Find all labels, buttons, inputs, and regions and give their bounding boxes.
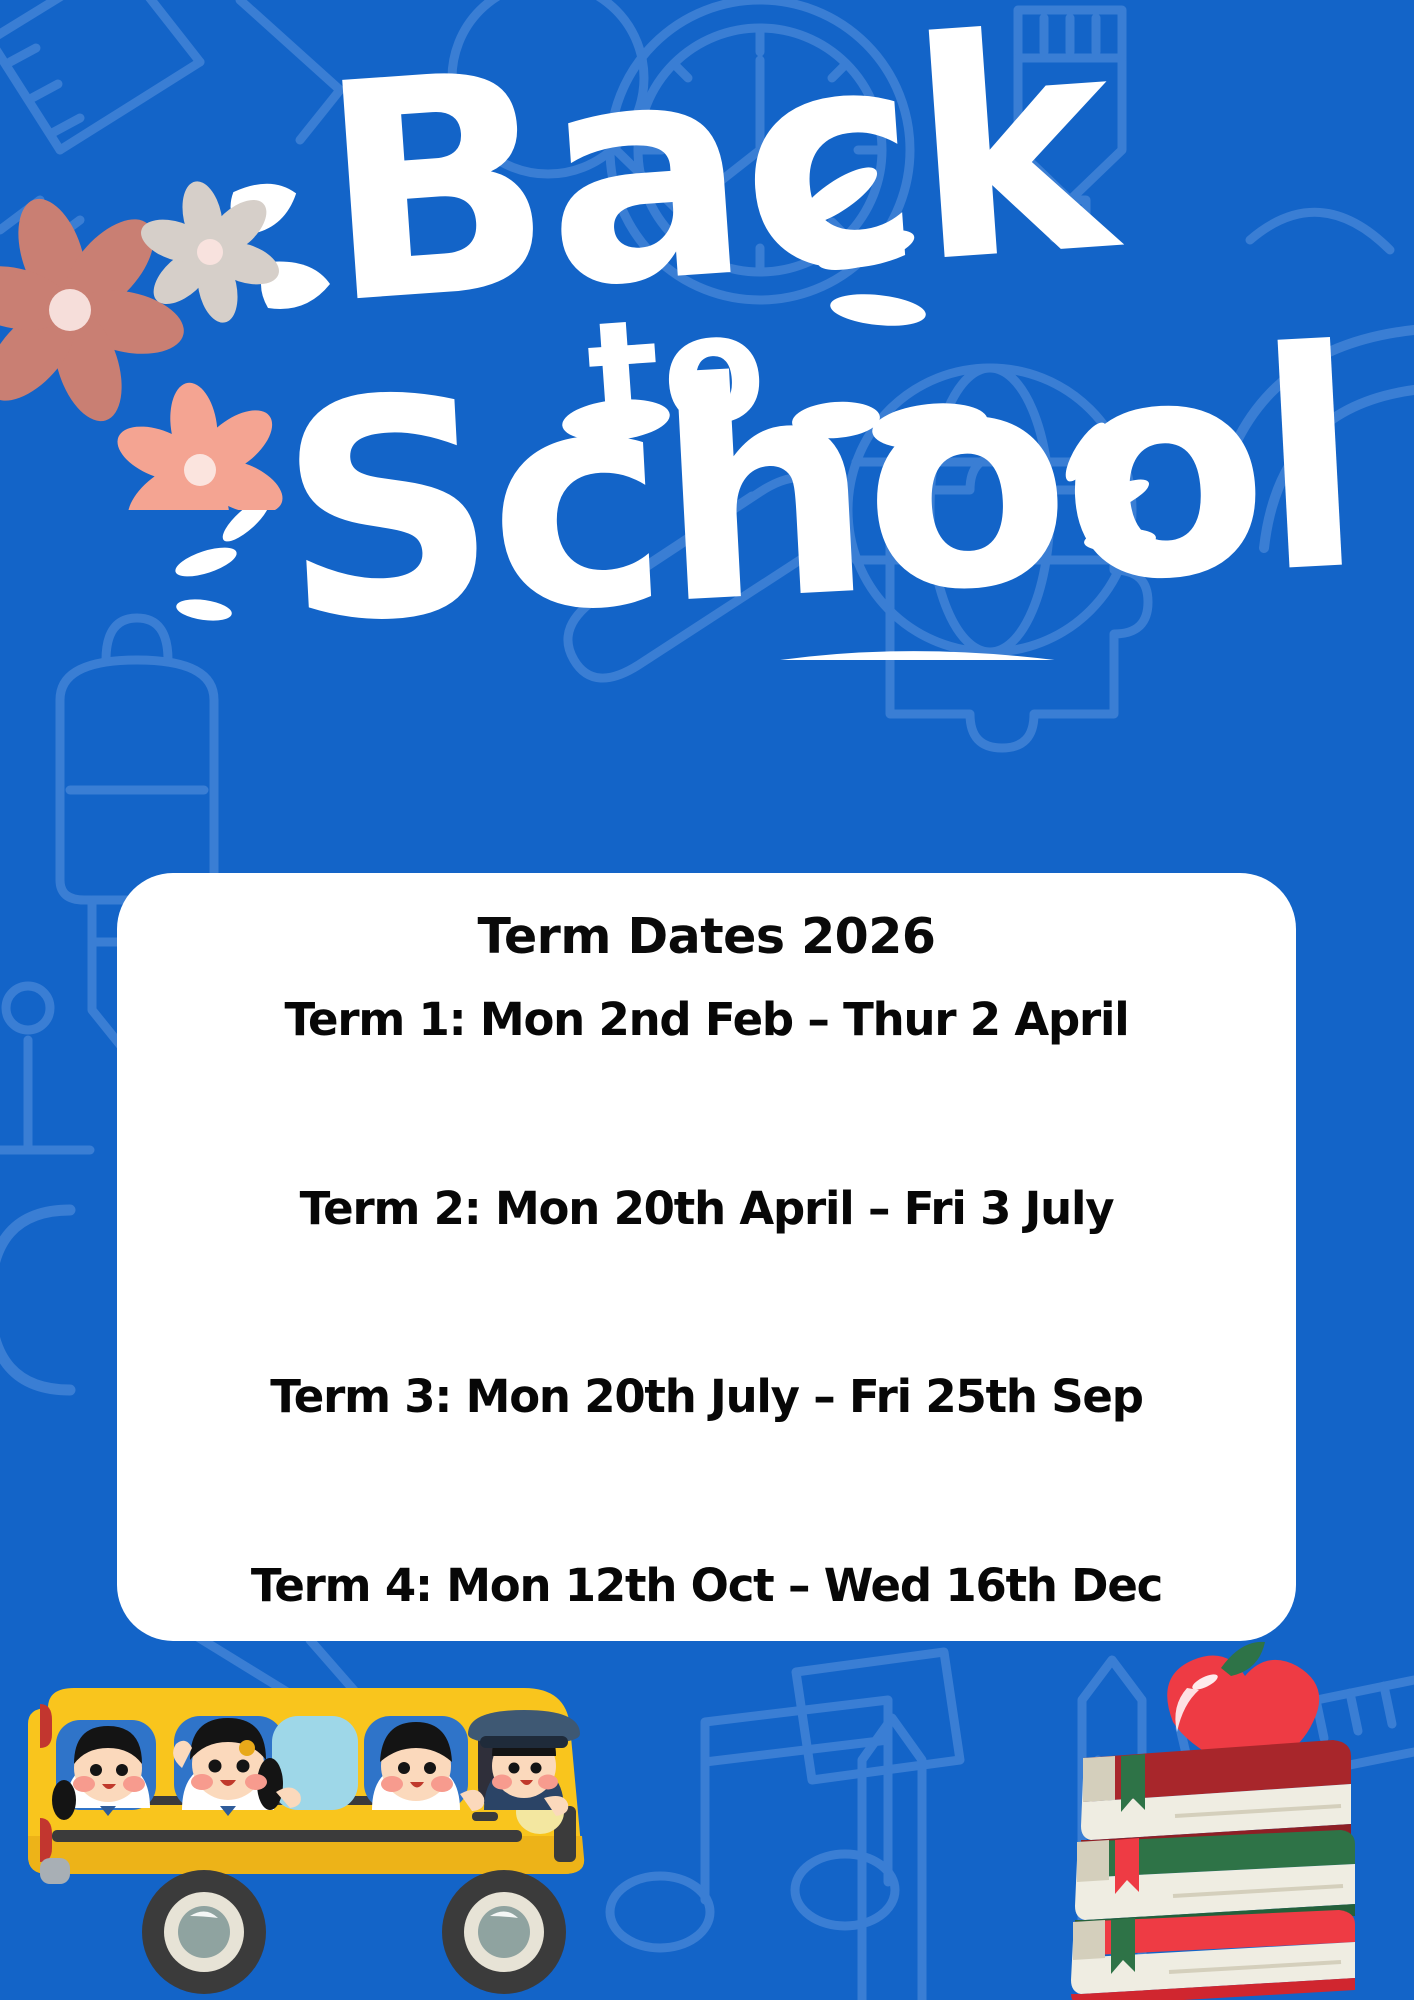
book-stack-illustration bbox=[1055, 1630, 1385, 2000]
bus-stripe-lower bbox=[52, 1830, 522, 1842]
school-bus-illustration bbox=[4, 1660, 624, 2000]
term-row-1: Term 1: Mon 2nd Feb – Thur 2 April bbox=[143, 996, 1270, 1043]
book-bottom bbox=[1071, 1910, 1355, 2000]
term-dates-card: Term Dates 2026 Term 1: Mon 2nd Feb – Th… bbox=[117, 873, 1296, 1641]
flower-pink bbox=[110, 380, 290, 510]
bus-wheel-rear bbox=[142, 1870, 266, 1994]
hair-clip bbox=[239, 1740, 255, 1756]
term-row-2: Term 2: Mon 20th April – Fri 3 July bbox=[143, 1185, 1270, 1232]
term-dates-list: Term 1: Mon 2nd Feb – Thur 2 April Term … bbox=[143, 962, 1270, 1623]
term-row-4: Term 4: Mon 12th Oct – Wed 16th Dec bbox=[143, 1562, 1270, 1609]
bus-light-top bbox=[40, 1704, 52, 1748]
term-row-3: Term 3: Mon 20th July – Fri 25th Sep bbox=[143, 1373, 1270, 1420]
flower-cluster bbox=[0, 180, 290, 510]
bus-light-bottom bbox=[40, 1818, 52, 1862]
headline-line-3: School bbox=[271, 286, 1362, 660]
bus-wheel-front bbox=[442, 1870, 566, 1994]
poster-canvas: Back to School Term Dates 2026 Term 1: M… bbox=[0, 0, 1414, 2000]
card-title: Term Dates 2026 bbox=[478, 911, 936, 962]
